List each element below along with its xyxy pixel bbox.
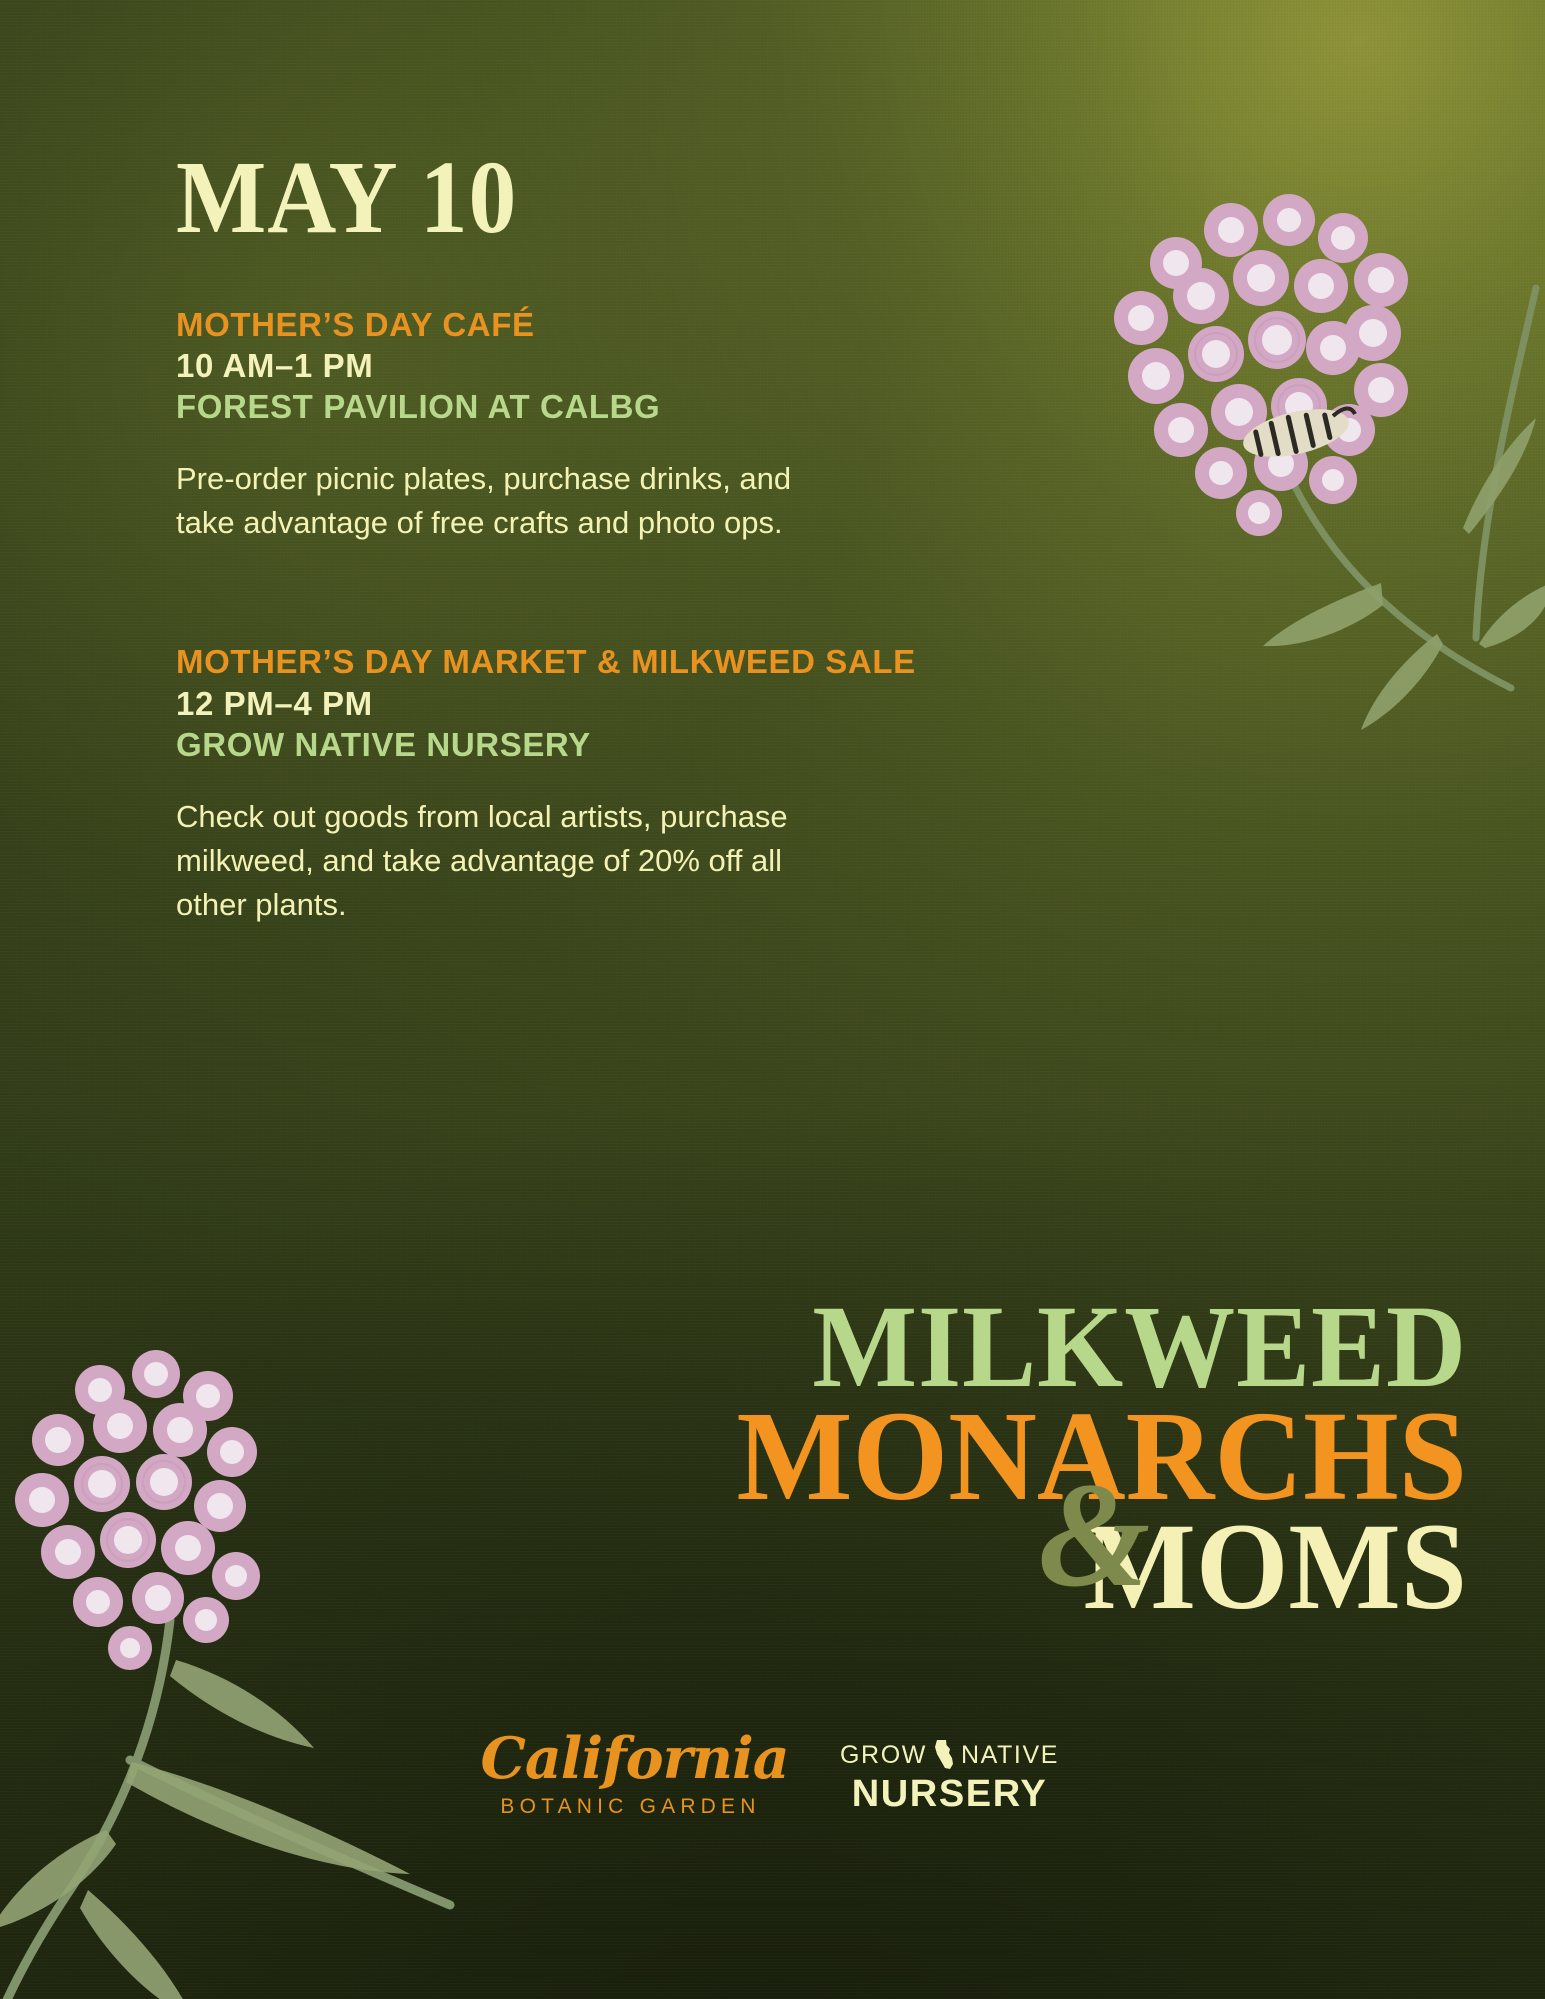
gnn-top-row: GROW NATIVE	[835, 1740, 1065, 1770]
event-poster: MAY 10 MOTHER’S DAY CAFÉ 10 AM–1 PM FORE…	[0, 0, 1545, 1999]
event-location-cafe: FOREST PAVILION AT CALBG	[176, 386, 976, 427]
cbg-subtitle-text: BOTANIC GARDEN	[481, 1795, 781, 1819]
event-title-cafe: MOTHER’S DAY CAFÉ	[176, 304, 976, 345]
logo-row: California BOTANIC GARDEN GROW NATIVE NU…	[0, 1730, 1545, 1819]
event-date: MAY 10	[176, 150, 912, 246]
headline-line-milkweed: MILKWEED	[88, 1296, 1467, 1397]
event-description-cafe: Pre-order picnic plates, purchase drinks…	[176, 457, 816, 545]
event-location-market: GROW NATIVE NURSERY	[176, 724, 976, 765]
gnn-native-text: NATIVE	[961, 1741, 1059, 1770]
california-botanic-garden-logo: California BOTANIC GARDEN	[481, 1730, 781, 1819]
gnn-nursery-text: NURSERY	[835, 1773, 1065, 1816]
grow-native-nursery-logo: GROW NATIVE NURSERY	[835, 1730, 1065, 1816]
event-title-market: MOTHER’S DAY MARKET & MILKWEED SALE	[176, 641, 976, 682]
california-state-icon	[934, 1740, 954, 1770]
gnn-grow-text: GROW	[840, 1741, 927, 1770]
poster-headline: MILKWEED MONARCHS & MOMS	[0, 1296, 1467, 1620]
headline-ampersand: &	[1038, 1460, 1150, 1610]
event-block-cafe: MOTHER’S DAY CAFÉ 10 AM–1 PM FOREST PAVI…	[176, 304, 976, 546]
poster-content: MAY 10 MOTHER’S DAY CAFÉ 10 AM–1 PM FORE…	[176, 0, 976, 927]
headline-line-monarchs: MONARCHS	[59, 1401, 1467, 1511]
cbg-script-text: California	[481, 1730, 781, 1787]
event-time-cafe: 10 AM–1 PM	[176, 345, 976, 386]
event-time-market: 12 PM–4 PM	[176, 683, 976, 724]
event-description-market: Check out goods from local artists, purc…	[176, 795, 816, 927]
headline-line-moms: & MOMS	[59, 1514, 1467, 1621]
event-block-market: MOTHER’S DAY MARKET & MILKWEED SALE 12 P…	[176, 641, 976, 927]
